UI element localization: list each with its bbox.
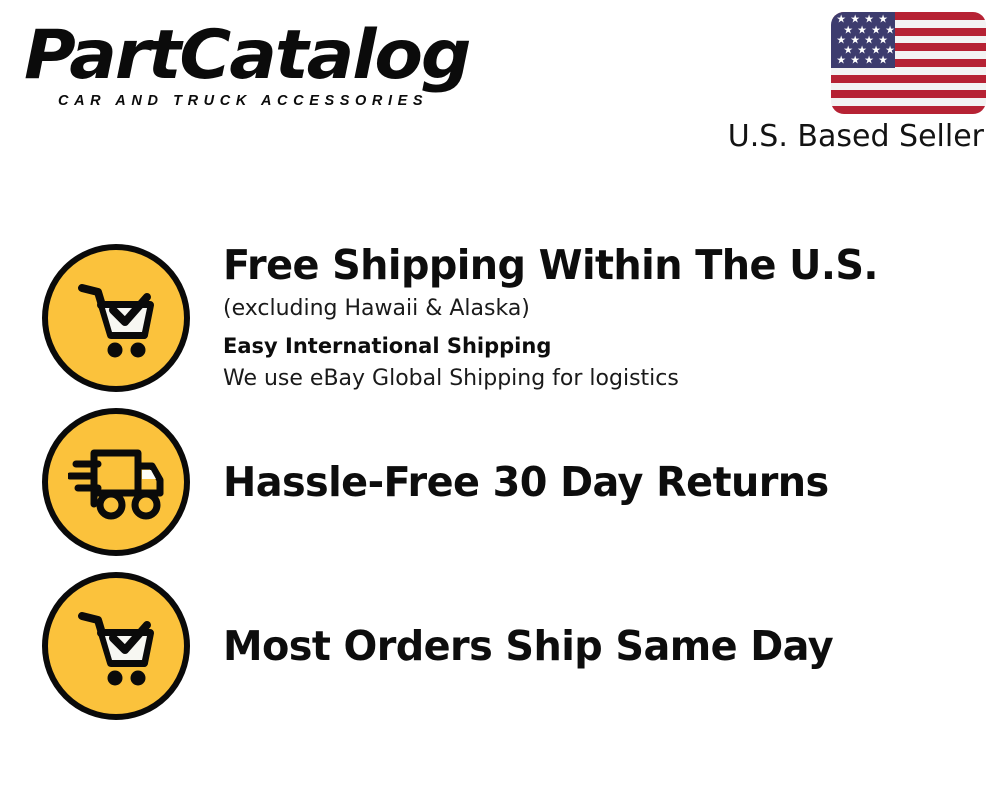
shopping-cart-check-icon [42,244,190,392]
benefit-text: Most Orders Ship Same Day [223,621,1000,671]
us-based-seller-block: ★ ★ ★ ★ ★ ★ ★ ★ ★ ★ ★ ★ ★ ★ ★ ★ ★ [706,12,986,156]
benefit-text: Free Shipping Within The U.S. (excluding… [223,240,1000,396]
us-flag-icon: ★ ★ ★ ★ ★ ★ ★ ★ ★ ★ ★ ★ ★ ★ ★ ★ ★ [831,12,986,114]
benefits-list: Free Shipping Within The U.S. (excluding… [0,236,1000,728]
brand-logo: PartCatalog CAR AND TRUCK ACCESSORIES [24,20,494,120]
benefit-sub-detail: We use eBay Global Shipping for logistic… [223,362,1000,396]
flag-canton: ★ ★ ★ ★ ★ ★ ★ ★ ★ ★ ★ ★ ★ ★ ★ ★ ★ [831,12,895,68]
brand-tagline: CAR AND TRUCK ACCESSORIES [58,93,494,109]
benefit-row: Most Orders Ship Same Day [0,564,1000,728]
benefit-row: Free Shipping Within The U.S. (excluding… [0,236,1000,400]
benefit-sub-heading: Easy International Shipping [223,330,1000,362]
delivery-truck-icon [42,408,190,556]
benefit-text: Hassle-Free 30 Day Returns [223,457,1000,507]
shopping-cart-check-icon [42,572,190,720]
flag-stars: ★ ★ ★ ★ ★ ★ ★ ★ ★ ★ ★ ★ ★ ★ ★ ★ ★ [831,12,895,68]
benefit-row: Hassle-Free 30 Day Returns [0,400,1000,564]
us-based-seller-label: U.S. Based Seller [728,118,984,156]
benefit-headline: Free Shipping Within The U.S. [223,240,977,290]
benefit-subline: (excluding Hawaii & Alaska) [223,292,1000,326]
benefit-headline: Hassle-Free 30 Day Returns [223,457,977,507]
seller-banner: PartCatalog CAR AND TRUCK ACCESSORIES ★ … [0,0,1000,800]
brand-wordmark: PartCatalog [24,20,513,92]
benefit-headline: Most Orders Ship Same Day [223,621,977,671]
